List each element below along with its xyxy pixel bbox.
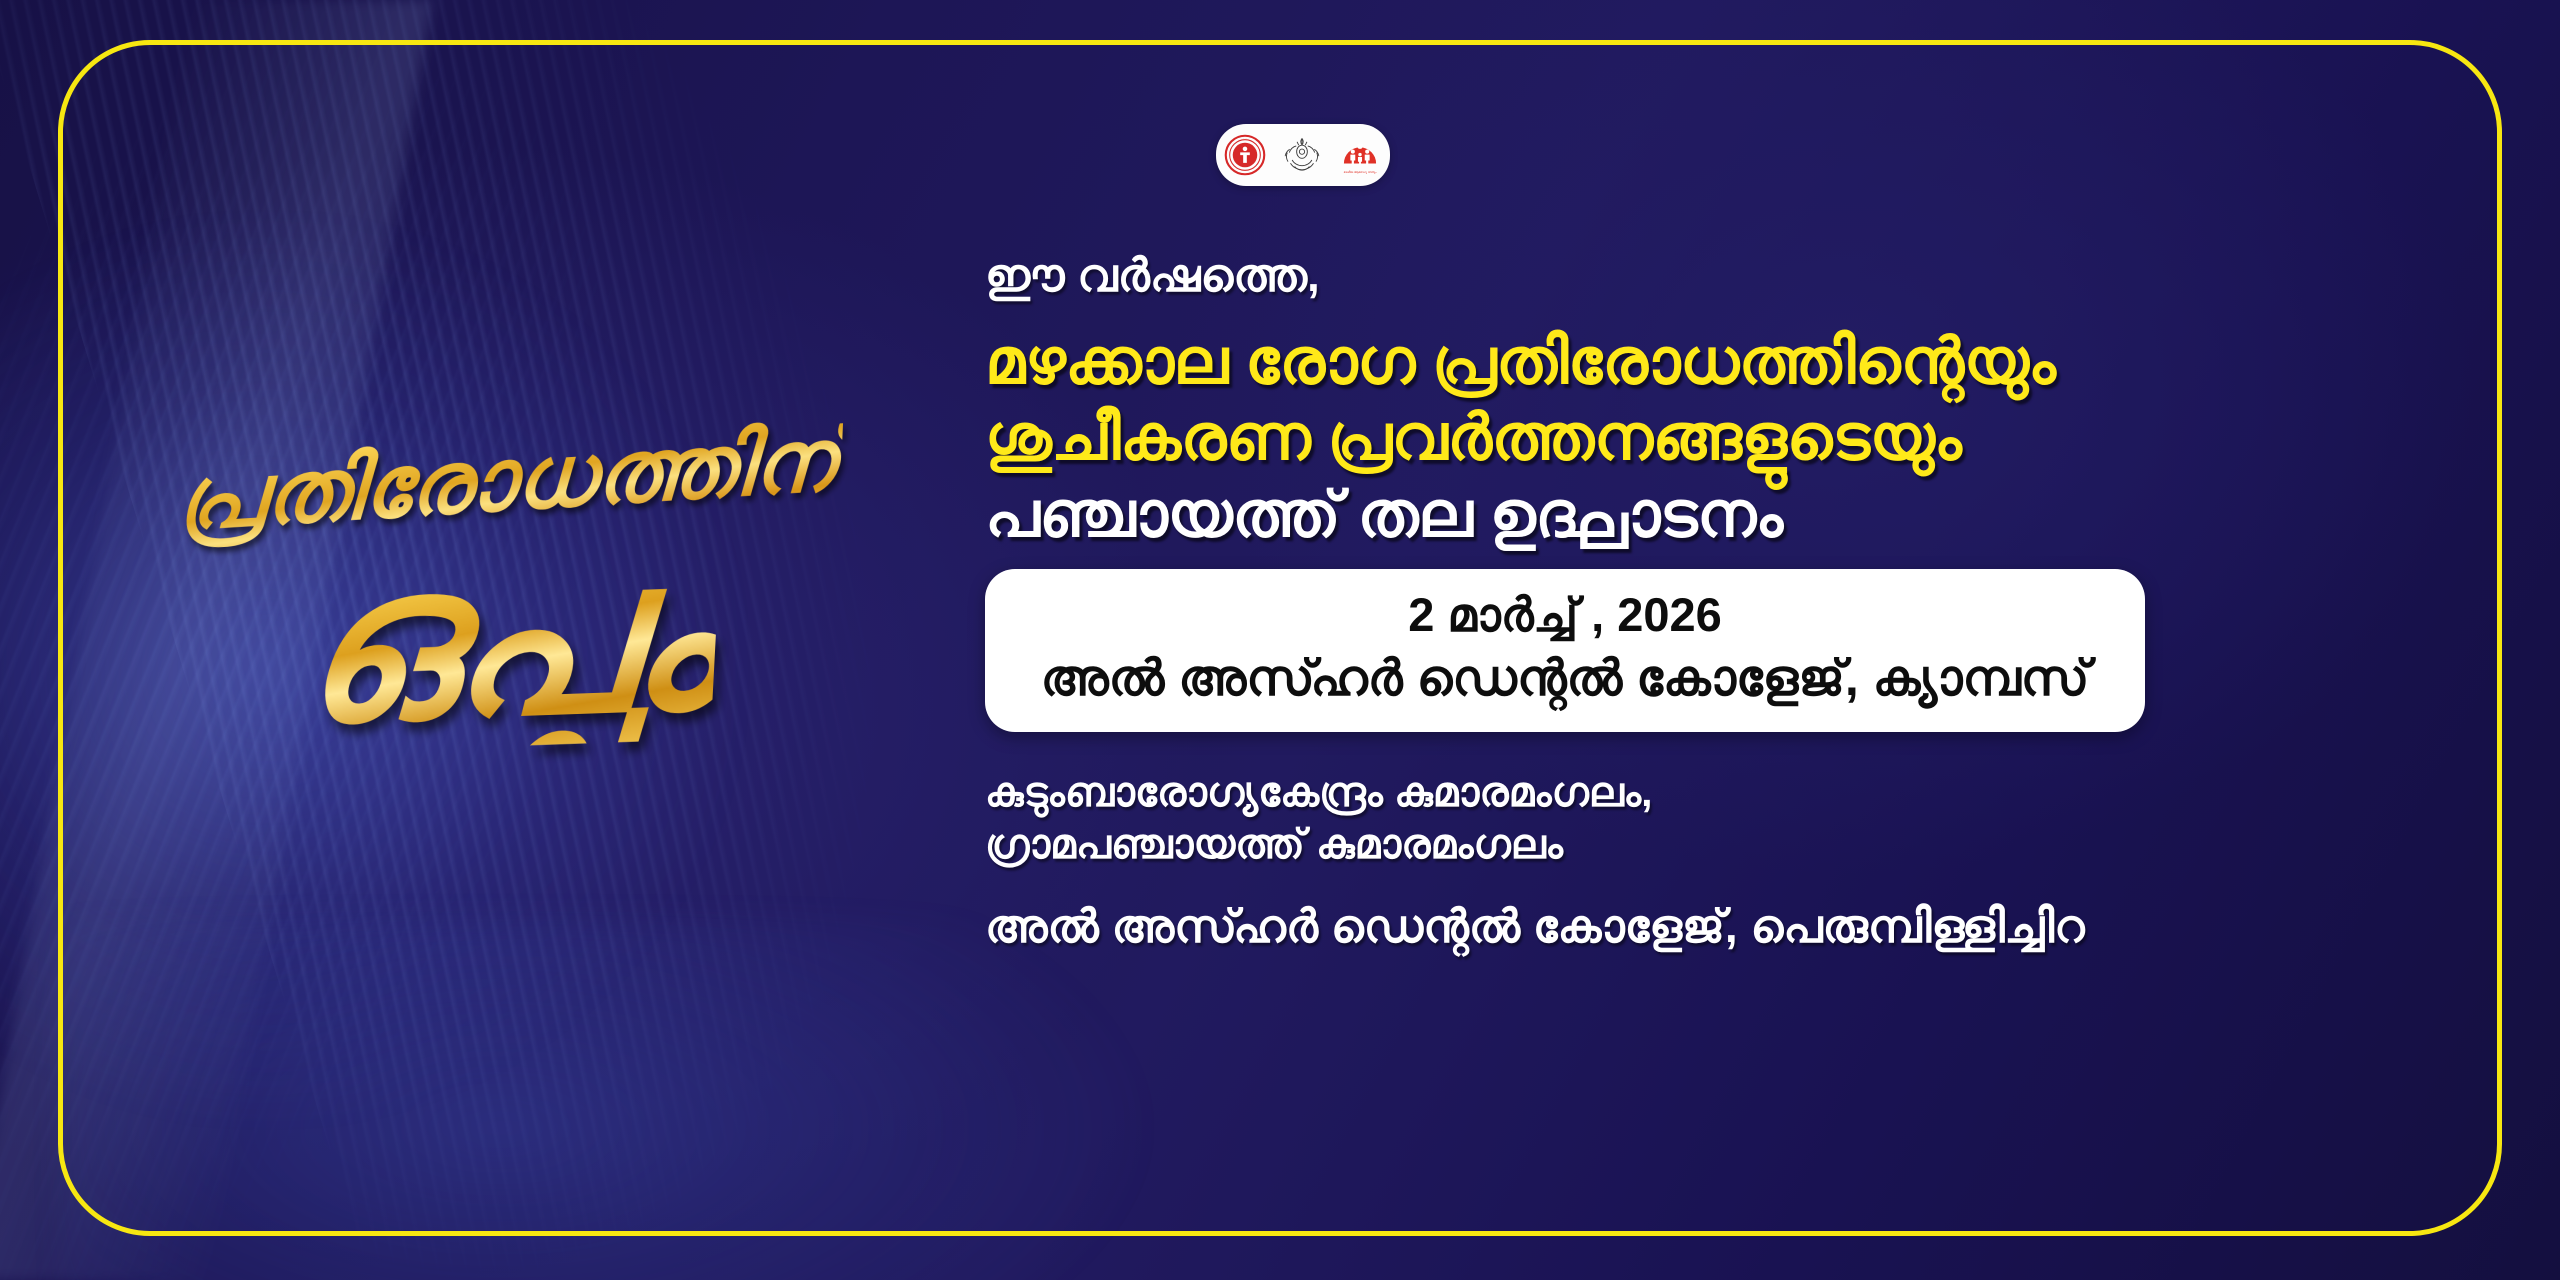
venue-card: 2 മാർച്ച് , 2026 അൽ അസ്ഹർ ഡെന്റൽ കോളേജ്,… [985,569,2145,732]
government-of-kerala-emblem [1279,134,1325,176]
light-sheen [0,0,433,1280]
event-date: 2 മാർച്ച് , 2026 [1015,587,2115,643]
gold-artwork-line-2: ഒപ്പം [298,531,722,754]
kicker-text: ഈ വർഷത്തെ, [985,250,2465,301]
ribbon-fan-secondary [0,0,1082,1280]
logo-strip: · · · [1216,124,1390,186]
left-glow [0,220,740,1120]
organizer-line-2: ഗ്രാമപഞ്ചായത്ത് കുമാരമംഗലം [985,818,2465,870]
organizer-block: കുടുംബാരോഗ്യകേന്ദ്രം കുമാരമംഗലം, ഗ്രാമപഞ… [985,766,2465,955]
heading-line-1: മഴക്കാല രോഗ പ്രതിരോധത്തിന്റെയും [985,323,2465,400]
event-poster: · · · [0,0,2560,1280]
bottom-glow [60,920,1160,1280]
department-of-health-services-kerala-logo: · · · [1224,134,1266,176]
national-health-mission-logo: ദേശീയ ആരോഗ്യ ദൗത്യം [1338,134,1382,176]
gold-artwork-line-1: പ്രതിരോധത്തിന് [176,409,844,552]
heading-line-3: പഞ്ചായത്ത് തല ഉദ്ഘാടനം [985,476,2465,553]
event-venue: അൽ അസ്ഹർ ഡെന്റൽ കോളേജ്, ക്യാമ്പസ് [1015,647,2115,710]
svg-text:ദേശീയ ആരോഗ്യ ദൗത്യം: ദേശീയ ആരോഗ്യ ദൗത്യം [1344,170,1378,174]
heading-line-2: ശുചീകരണ പ്രവർത്തനങ്ങളുടെയും [985,399,2465,476]
gold-artwork: പ്രതിരോധത്തിന് ഒപ്പം [70,430,950,990]
organizer-line-3: അൽ അസ്ഹർ ഡെന്റൽ കോളേജ്, പെരുമ്പിള്ളിച്ചി… [985,899,2465,955]
organizer-line-1: കുടുംബാരോഗ്യകേന്ദ്രം കുമാരമംഗലം, [985,766,2465,818]
content-column: ഈ വർഷത്തെ, മഴക്കാല രോഗ പ്രതിരോധത്തിന്റെയ… [985,250,2465,955]
svg-text:· · ·: · · · [1243,137,1247,140]
